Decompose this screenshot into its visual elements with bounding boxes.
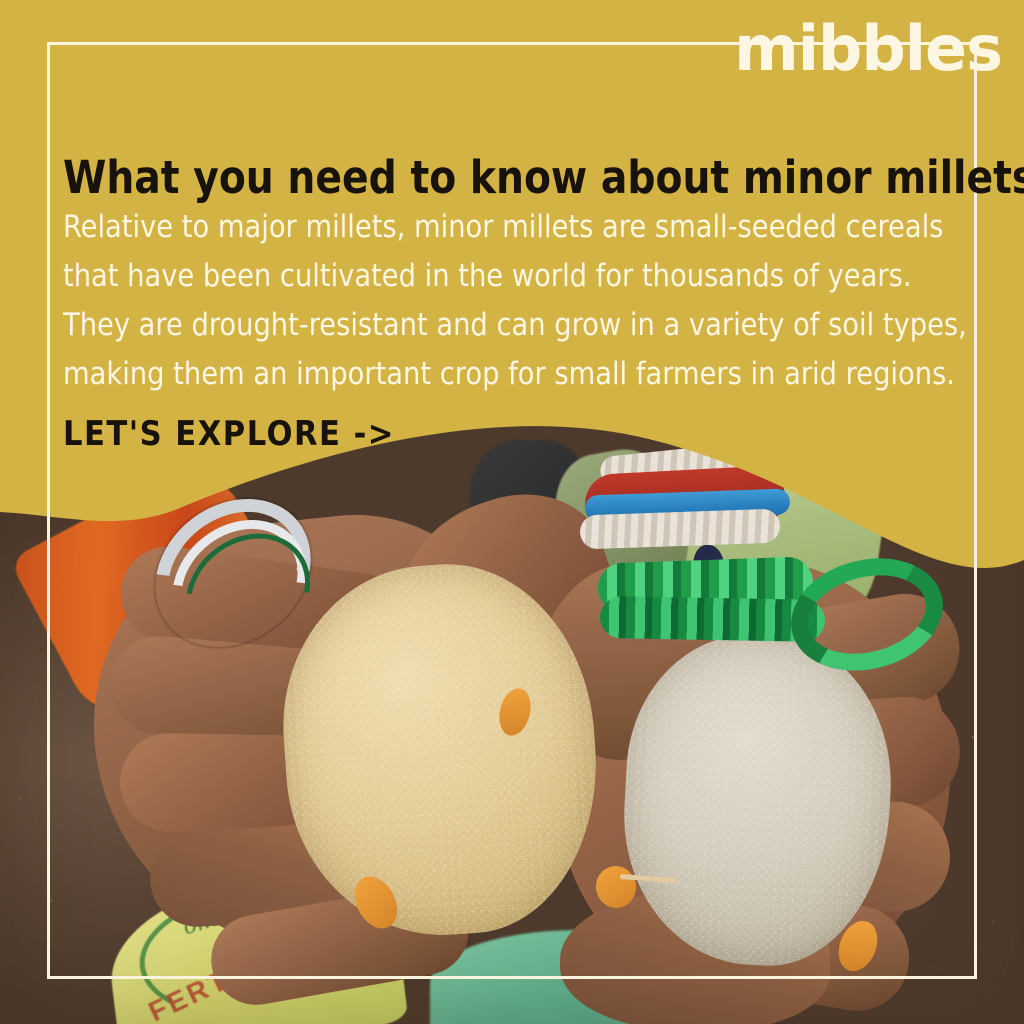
- white-thread-lower: [579, 509, 780, 550]
- body-line-4: making them an important crop for small …: [63, 350, 935, 399]
- body-paragraph: Relative to major millets, minor millets…: [63, 203, 953, 399]
- poster-canvas: ond FERTILISER: [0, 0, 1024, 1024]
- white-millet-pile: [617, 628, 899, 971]
- body-line-2: that have been cultivated in the world f…: [63, 252, 935, 301]
- lets-explore-cta[interactable]: LET'S EXPLORE ->: [63, 414, 395, 454]
- brand-logo[interactable]: mibbles: [734, 18, 1002, 80]
- white-millet-texture: [617, 628, 899, 971]
- page-title: What you need to know about minor millet…: [63, 151, 936, 204]
- golden-millet-texture: [272, 555, 607, 946]
- golden-millet-pile: [272, 555, 607, 946]
- body-line-3: They are drought-resistant and can grow …: [63, 301, 935, 350]
- body-line-1: Relative to major millets, minor millets…: [63, 203, 935, 252]
